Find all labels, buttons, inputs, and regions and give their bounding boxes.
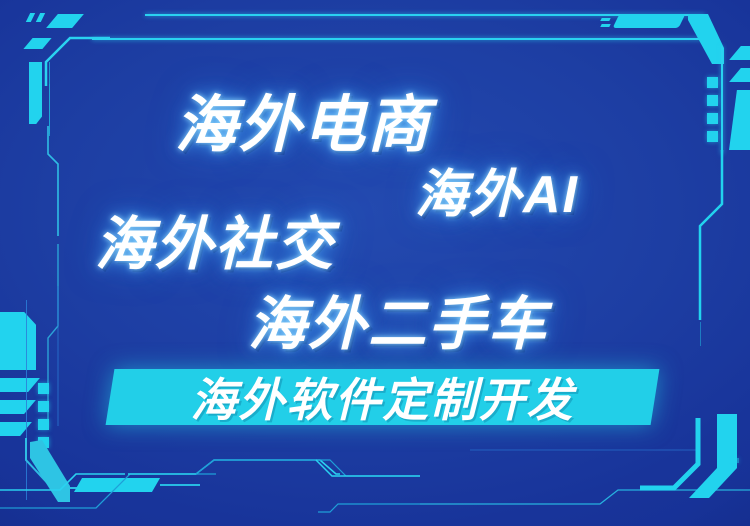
poster-canvas: 海外电商 海外AI 海外社交 海外二手车 海外软件定制开发 — [0, 0, 750, 526]
cta-banner-label: 海外软件定制开发 — [191, 364, 575, 430]
headline-line-4: 海外二手车 — [248, 277, 548, 361]
headline-line-1: 海外电商 — [175, 74, 431, 164]
cta-banner[interactable]: 海外软件定制开发 — [110, 369, 655, 425]
headline-line-3: 海外社交 — [95, 197, 335, 281]
headline-line-2: 海外AI — [415, 152, 579, 227]
headline-group: 海外电商 海外AI 海外社交 海外二手车 — [0, 0, 750, 526]
